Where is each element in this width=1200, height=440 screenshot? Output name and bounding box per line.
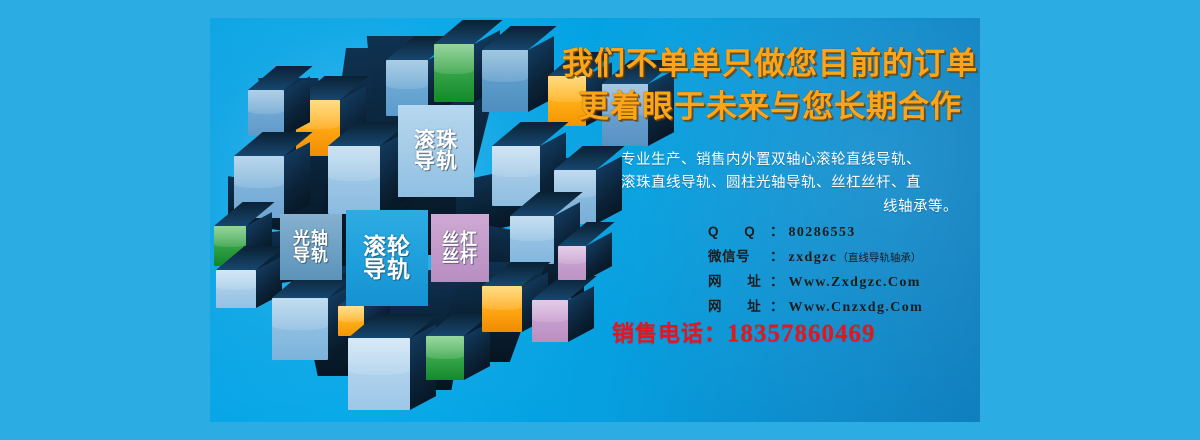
promo-banner: 滚珠 导轨 光轴 导轨 滚轮 导轨 丝杠 丝杆 我们不单单只做您目前的订单 更着… xyxy=(210,18,980,422)
sales-phone-number[interactable]: 18357860469 xyxy=(727,320,876,347)
cube-face xyxy=(348,338,410,410)
cube-face xyxy=(510,216,554,264)
contact-row-wechat: 微信号 ： zxdgzc （直线导轨轴承） xyxy=(708,245,980,270)
description-line-3: 线轴承等。 xyxy=(578,196,964,219)
cube-blue xyxy=(328,146,380,214)
banner-text-column: 我们不单单只做您目前的订单 更着眼于未来与您长期合作 专业生产、销售内外置双轴心… xyxy=(560,18,980,422)
cube-face xyxy=(272,298,328,360)
cube-green xyxy=(434,44,474,102)
website2-separator: ： xyxy=(770,295,784,318)
wechat-value[interactable]: zxdgzc xyxy=(789,246,838,270)
cube-blue xyxy=(482,50,528,112)
wechat-label: 微信号 xyxy=(708,245,770,268)
description: 专业生产、销售内外置双轴心滚轮直线导轨、 滚珠直线导轨、圆柱光轴导轨、丝杠丝杆、… xyxy=(578,149,964,219)
cube-blue xyxy=(248,90,284,136)
cube-face xyxy=(328,146,380,214)
qq-label: Q Q xyxy=(708,220,770,243)
cube-green xyxy=(426,336,464,380)
qq-separator: ： xyxy=(770,220,784,243)
website1-value[interactable]: Www.Zxdgzc.Com xyxy=(789,271,921,295)
label-line-2: 导轨 xyxy=(363,258,411,281)
cube-blue xyxy=(272,298,328,360)
cube-face xyxy=(248,90,284,136)
sales-phone: 销售电话：18357860469 xyxy=(612,316,952,348)
product-label-roller-guide: 滚轮 导轨 xyxy=(346,210,428,306)
cube-blue xyxy=(348,338,410,410)
wechat-note: （直线导轨轴承） xyxy=(837,249,921,267)
label-line-1: 滚轮 xyxy=(363,235,411,258)
product-label-shaft-guide: 光轴 导轨 xyxy=(280,214,342,280)
cube-face xyxy=(434,44,474,102)
product-label-lead-screw: 丝杠 丝杆 xyxy=(431,214,489,282)
cube-blue xyxy=(510,216,554,264)
label-line-2: 导轨 xyxy=(293,247,329,264)
label-line-2: 丝杆 xyxy=(442,248,478,265)
qq-value[interactable]: 80286553 xyxy=(789,221,856,245)
description-line-1: 专业生产、销售内外置双轴心滚轮直线导轨、 xyxy=(578,149,964,172)
wechat-separator: ： xyxy=(770,245,784,268)
label-line-1: 滚珠 xyxy=(414,130,458,151)
cube-blue xyxy=(216,270,256,308)
product-label-ball-guide: 滚珠 导轨 xyxy=(398,105,474,197)
headline-line-2: 更着眼于未来与您长期合作 xyxy=(560,86,980,129)
label-line-1: 丝杠 xyxy=(442,231,478,248)
headline: 我们不单单只做您目前的订单 更着眼于未来与您长期合作 xyxy=(560,43,980,129)
label-line-2: 导轨 xyxy=(414,151,458,172)
contact-row-qq: Q Q ： 80286553 xyxy=(708,220,980,245)
sales-phone-label: 销售电话： xyxy=(612,321,727,346)
label-line-1: 光轴 xyxy=(293,230,329,247)
banner-page: 滚珠 导轨 光轴 导轨 滚轮 导轨 丝杠 丝杆 我们不单单只做您目前的订单 更着… xyxy=(0,0,1200,440)
cube-face xyxy=(482,286,522,332)
website1-label: 网 址 xyxy=(708,270,770,293)
contact-row-website-1: 网 址 ： Www.Zxdgzc.Com xyxy=(708,270,980,295)
cube-face xyxy=(216,270,256,308)
website1-separator: ： xyxy=(770,270,784,293)
description-line-2: 滚珠直线导轨、圆柱光轴导轨、丝杠丝杆、直 xyxy=(578,172,964,195)
cube-cluster-graphic: 滚珠 导轨 光轴 导轨 滚轮 导轨 丝杠 丝杆 xyxy=(210,18,570,422)
cube-orange xyxy=(482,286,522,332)
contact-block: Q Q ： 80286553 微信号 ： zxdgzc （直线导轨轴承） 网 址… xyxy=(708,220,980,320)
headline-line-1: 我们不单单只做您目前的订单 xyxy=(560,43,980,86)
cube-face xyxy=(426,336,464,380)
cube-face xyxy=(482,50,528,112)
website2-label: 网 址 xyxy=(708,295,770,318)
